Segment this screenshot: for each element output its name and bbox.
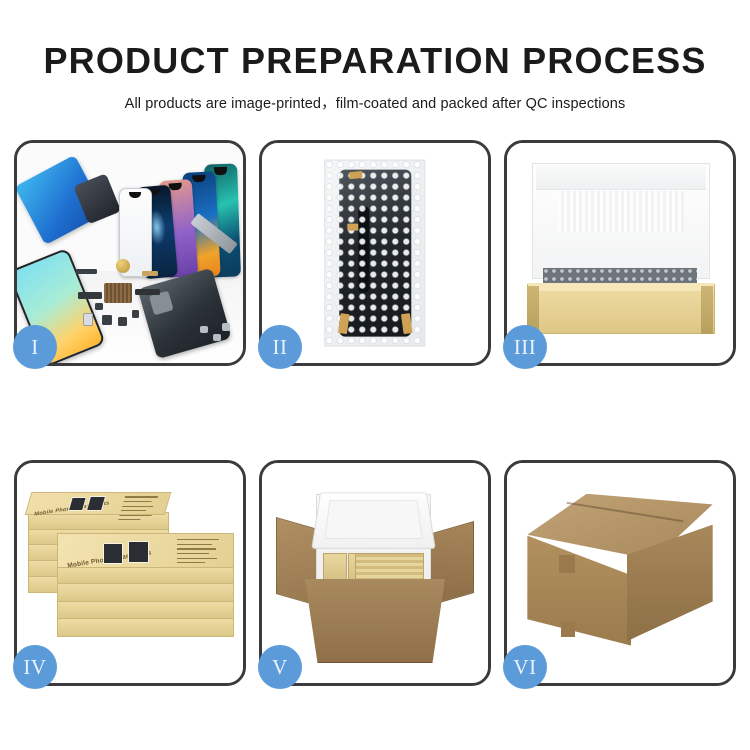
small-part-icon: [102, 315, 113, 325]
flex-cable-icon: [135, 289, 161, 295]
spec-line: [177, 562, 205, 563]
step-panel-1: I: [14, 140, 246, 366]
bubble-wrap-bag: [324, 160, 425, 347]
page-subtitle: All products are image-printed，film-coat…: [0, 80, 750, 113]
box-phone-image: [128, 541, 149, 564]
spec-line: [177, 544, 212, 545]
box-spec-lines: [177, 539, 222, 561]
kraft-box-layer: [57, 617, 234, 637]
steps-grid: I II: [14, 140, 736, 686]
white-foam-lid: [532, 163, 710, 279]
product-process-infographic: PRODUCT PREPARATION PROCESS All products…: [0, 0, 750, 750]
carton-tape-tab: [561, 621, 575, 636]
spec-line: [177, 558, 217, 559]
header: PRODUCT PREPARATION PROCESS All products…: [0, 0, 750, 113]
step-image-4: Mobile Phone Spare Parts: [17, 463, 243, 683]
step-badge-2: II: [258, 325, 302, 369]
notch-icon: [169, 183, 182, 191]
earpiece-part-icon: [76, 269, 97, 273]
notch-icon: [192, 175, 205, 183]
spec-line: [177, 539, 219, 540]
screw-icon: [200, 326, 208, 333]
step-image-5: [262, 463, 488, 683]
step-image-3: [507, 143, 733, 363]
spec-line: [121, 511, 146, 512]
flex-cable-icon: [78, 292, 102, 299]
kraft-box-layer: [57, 582, 234, 602]
phone-adhesive-frame: [17, 155, 105, 245]
step-panel-3: III: [504, 140, 736, 366]
carton-tape-tab: [559, 555, 575, 573]
spec-line: [177, 553, 209, 554]
screws-group: [200, 323, 232, 345]
kraft-box-top-rear: Mobile Phone Spare Parts: [25, 492, 172, 515]
carton-body: [305, 579, 445, 664]
step-image-1: [17, 143, 243, 363]
screw-icon: [213, 334, 221, 341]
speaker-part-icon: [116, 259, 130, 273]
kraft-box-side-right: [701, 286, 712, 334]
step-panel-2: II: [259, 140, 491, 366]
step-image-6: [507, 463, 733, 683]
spec-line: [122, 506, 153, 507]
page-title: PRODUCT PREPARATION PROCESS: [0, 0, 750, 80]
small-part-icon: [95, 303, 103, 310]
kraft-box-base: [527, 284, 714, 334]
step-badge-1: I: [13, 325, 57, 369]
box-phone-image: [87, 496, 107, 511]
gold-connector-icon: [142, 271, 158, 276]
step-badge-6: VI: [503, 645, 547, 689]
screw-icon: [222, 323, 230, 330]
foam-sheet: [558, 191, 685, 232]
step-panel-4: Mobile Phone Spare Parts: [14, 460, 246, 686]
box-phone-image: [103, 543, 122, 564]
chip-grid-icon: [104, 283, 132, 302]
notch-icon: [129, 192, 141, 198]
kraft-box-layer: [57, 600, 234, 620]
small-part-icon: [118, 317, 127, 326]
step-image-2: [262, 143, 488, 363]
foam-box-lid: [311, 493, 435, 550]
spare-parts-cluster: [76, 264, 194, 352]
notch-icon: [214, 167, 227, 175]
sim-tray-icon: [83, 313, 93, 326]
step-panel-5: V: [259, 460, 491, 686]
small-part-icon: [132, 310, 139, 318]
tape-strip-icon: [347, 223, 358, 230]
spec-line: [124, 501, 152, 502]
kraft-box-top-front: Mobile Phone Spare Parts: [57, 533, 234, 568]
spec-line: [125, 497, 158, 498]
step-badge-3: III: [503, 325, 547, 369]
spec-line: [177, 548, 216, 549]
step-badge-5: V: [258, 645, 302, 689]
box-spec-lines: [121, 497, 161, 511]
step-panel-6: VI: [504, 460, 736, 686]
step-badge-4: IV: [13, 645, 57, 689]
kraft-box-stack: Mobile Phone Spare Parts: [28, 487, 231, 663]
